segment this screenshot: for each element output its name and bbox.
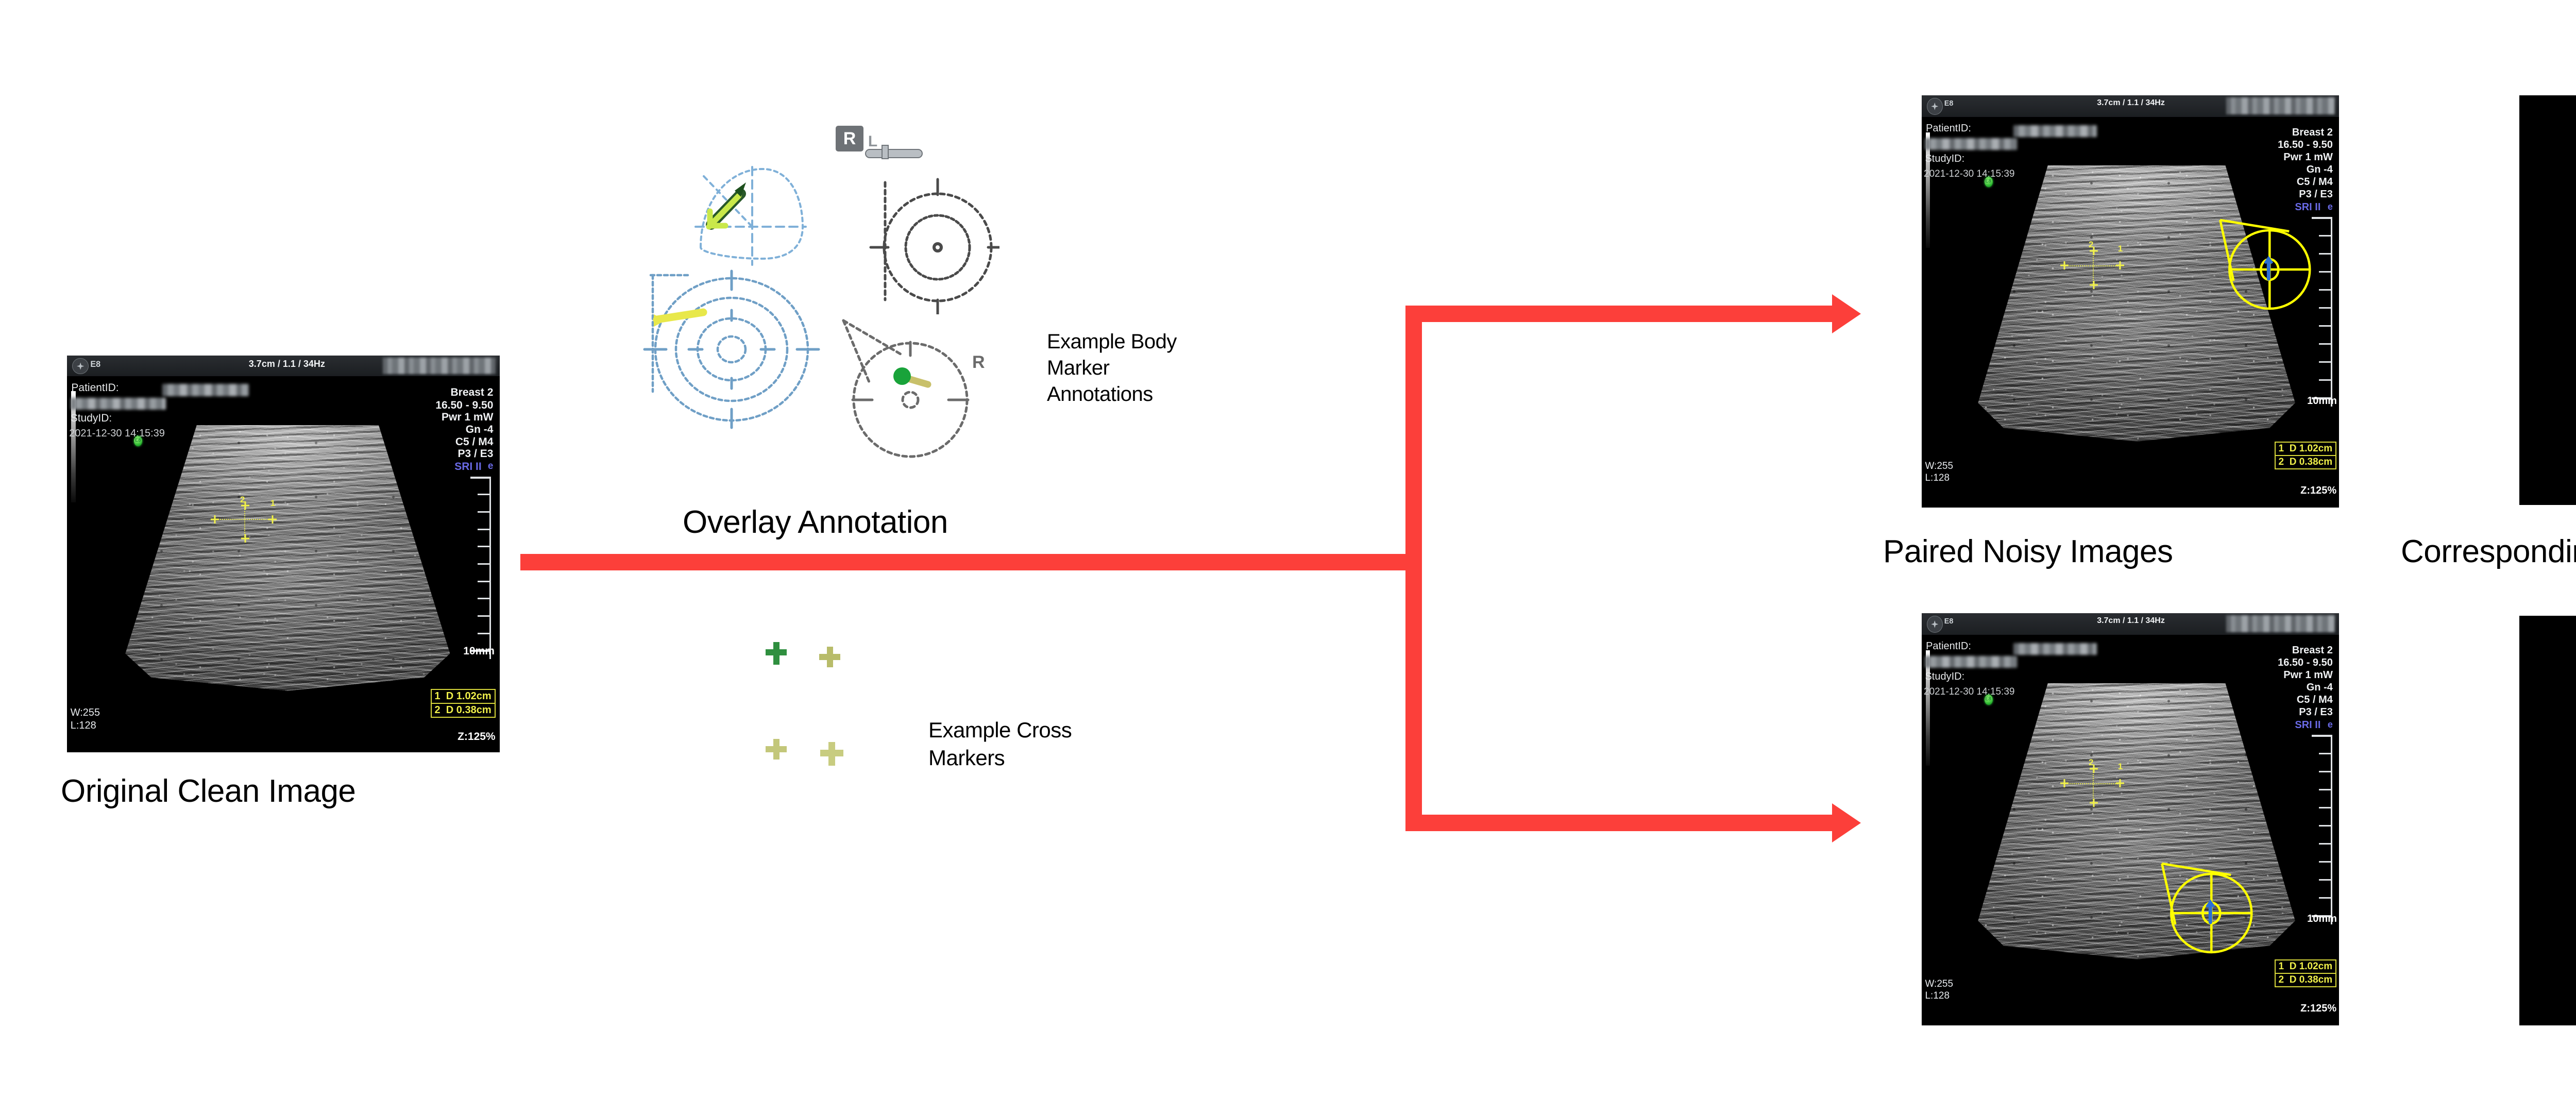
body-marker-concentric-dark <box>855 170 999 314</box>
measurement-value: D 1.02cm <box>2290 443 2332 454</box>
caliper-label-2: 2 <box>2089 757 2093 768</box>
caliper-label-2: 2 <box>240 495 245 505</box>
measurement-value: D 0.38cm <box>2290 974 2332 985</box>
flow-arrowhead-top <box>1832 294 1861 333</box>
cross-marker-olive-1 <box>818 646 842 668</box>
window-value: W:255 <box>1925 460 1953 472</box>
measurement-id: 1 <box>2279 443 2284 454</box>
body-marker-breast-dashed-blue <box>680 149 814 268</box>
window-level-readout: W:255 L:128 <box>71 706 100 732</box>
cross-marker-olive-3 <box>819 741 845 767</box>
caliper-endpoint <box>2060 261 2069 269</box>
flow-branch-bottom <box>1405 815 1833 831</box>
cross-marker-green <box>765 641 788 666</box>
measurement-row: 2 D 0.38cm <box>2276 456 2336 468</box>
zoom-level-label: Z:125% <box>2300 1003 2336 1015</box>
level-value: L:128 <box>1925 472 1953 484</box>
caliper-label-2: 2 <box>2089 240 2093 250</box>
measurement-row: 1 D 1.02cm <box>432 690 495 703</box>
flow-trunk-vertical <box>1405 306 1422 831</box>
caliper-label-1: 1 <box>2118 762 2123 772</box>
caliper-axis-horizontal <box>2063 265 2120 266</box>
measurement-table: 1 D 1.02cm 2 D 0.38cm <box>2275 442 2337 469</box>
figure-canvas: E8 3.7cm / 1.1 / 34Hz PatientID: StudyID… <box>0 0 2576 1113</box>
overlaid-body-marker <box>2154 852 2262 955</box>
caption-original-clean-image: Original Clean Image <box>61 773 355 810</box>
noisy-image-bottom: E8 3.7cm / 1.1 / 34Hz PatientID: StudyID… <box>1922 613 2339 1025</box>
caliper-axis-horizontal <box>2063 783 2120 784</box>
measurement-row: 2 D 0.38cm <box>2276 974 2336 986</box>
level-value: L:128 <box>1925 990 1953 1002</box>
body-marker-teardrop: R <box>832 314 987 469</box>
caliper-endpoint <box>2116 261 2124 269</box>
measurement-table: 1 D 1.02cm 2 D 0.38cm <box>431 689 496 718</box>
caliper-endpoint <box>2060 779 2069 787</box>
measurement-row: 2 D 0.38cm <box>432 704 495 717</box>
flow-branch-top <box>1405 306 1833 322</box>
measurement-value: D 0.38cm <box>446 704 492 716</box>
caliper-endpoint <box>2116 779 2124 787</box>
caption-overlay-annotation: Overlay Annotation <box>683 504 948 541</box>
measurement-id: 1 <box>435 690 440 702</box>
cross-marker-olive-2 <box>765 738 788 761</box>
caliper-endpoint <box>2090 281 2098 289</box>
svg-text:L: L <box>868 133 877 150</box>
segmentation-mask-top <box>2519 95 2576 505</box>
original-clean-image: E8 3.7cm / 1.1 / 34Hz PatientID: StudyID… <box>67 356 500 752</box>
measurement-id: 2 <box>2279 974 2284 985</box>
caliper-endpoint <box>268 515 277 524</box>
caliper-endpoint <box>211 515 219 524</box>
measurement-row: 1 D 1.02cm <box>2276 960 2336 973</box>
zoom-level-label: Z:125% <box>457 731 496 743</box>
segmentation-mask-bottom <box>2519 616 2576 1025</box>
zoom-level-label: Z:125% <box>2300 485 2336 497</box>
caption-paired-noisy-images: Paired Noisy Images <box>1883 533 2173 570</box>
caption-segmentation-masks: Corresponding Segmentation Masks <box>2401 533 2576 570</box>
caliper-endpoint <box>241 534 249 543</box>
measurement-id: 1 <box>2279 961 2284 972</box>
scale-label: 10mm <box>2307 913 2337 925</box>
measurement-value: D 1.02cm <box>2290 961 2332 972</box>
flow-arrowhead-bottom <box>1832 803 1861 842</box>
scale-label: 10mm <box>463 645 495 657</box>
noisy-image-top: E8 3.7cm / 1.1 / 34Hz PatientID: StudyID… <box>1922 95 2339 508</box>
caliper-label-1: 1 <box>2118 244 2123 254</box>
svg-text:R: R <box>843 129 856 148</box>
caliper-label-1: 1 <box>270 498 275 509</box>
level-value: L:128 <box>71 719 100 732</box>
window-level-readout: W:255 L:128 <box>1925 978 1953 1002</box>
measurement-row: 1 D 1.02cm <box>2276 443 2336 455</box>
caliper-axis-horizontal <box>214 519 273 520</box>
scale-label: 10mm <box>2307 395 2337 407</box>
measurement-id: 2 <box>435 704 440 716</box>
overlaid-body-marker <box>2212 209 2320 312</box>
window-value: W:255 <box>1925 978 1953 990</box>
caption-cross-markers: Example Cross Markers <box>928 716 1145 772</box>
measurement-value: D 0.38cm <box>2290 457 2332 467</box>
window-level-readout: W:255 L:128 <box>1925 460 1953 484</box>
caliper-endpoint <box>2090 799 2098 807</box>
flow-trunk-horizontal <box>520 554 1422 570</box>
measurement-value: D 1.02cm <box>446 690 492 702</box>
body-marker-concentric-blue <box>641 263 827 433</box>
measurement-id: 2 <box>2279 457 2284 467</box>
measurement-table: 1 D 1.02cm 2 D 0.38cm <box>2275 959 2337 987</box>
window-value: W:255 <box>71 706 100 719</box>
svg-text:R: R <box>972 352 985 372</box>
caption-body-marker-examples: Example Body Marker Annotations <box>1047 329 1217 408</box>
